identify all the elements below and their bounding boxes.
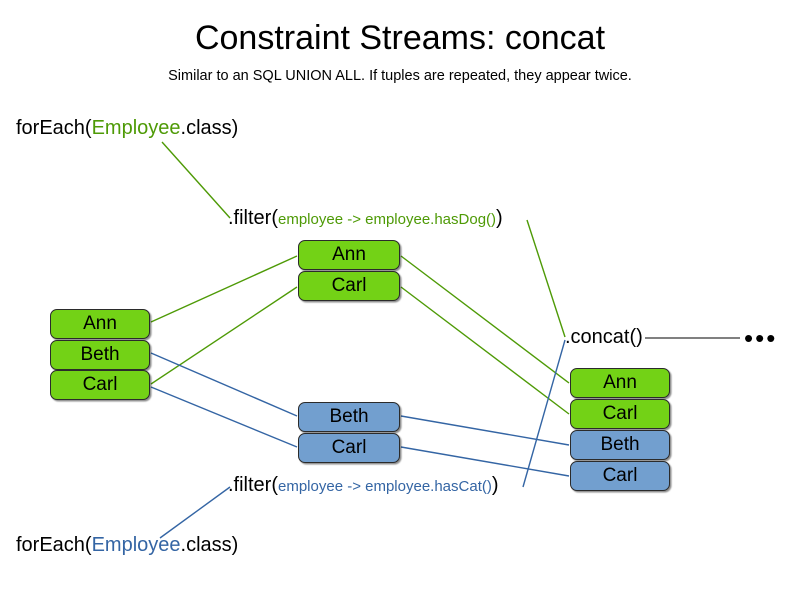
filter-dog-label: .filter(employee -> employee.hasDog()) [228, 208, 503, 228]
wire-dog-carl-to-result-carl [401, 287, 569, 414]
continuation-ellipsis: ••• [744, 325, 777, 351]
wire-foreach-top-to-filter-dog [162, 142, 230, 218]
wire-foreach-bottom-to-filter-cat [160, 487, 230, 538]
connector-layer [0, 0, 800, 600]
page-subtitle: Similar to an SQL UNION ALL. If tuples a… [0, 67, 800, 85]
wire-source-beth-to-cat-beth [151, 353, 297, 416]
filter-cat-label: .filter(employee -> employee.hasCat()) [228, 475, 499, 495]
foreach-top-type: Employee [92, 117, 181, 139]
tuple-node[interactable]: Carl [298, 433, 400, 463]
wire-cat-carl-to-result-carl [401, 447, 569, 476]
wire-filter-cat-to-concat [523, 340, 565, 487]
filter-dog-prefix: .filter( [228, 207, 278, 229]
filter-cat-suffix: ) [492, 474, 499, 496]
concat-label: .concat() [565, 327, 643, 347]
wire-source-carl-to-cat-carl [151, 387, 297, 447]
filter-dog-lambda: employee -> employee.hasDog() [278, 211, 496, 228]
filter-cat-prefix: .filter( [228, 474, 278, 496]
diagram-canvas: Constraint Streams: concat Similar to an… [0, 0, 800, 600]
foreach-top-prefix: forEach( [16, 117, 92, 139]
wire-filter-dog-to-concat [527, 220, 565, 337]
tuple-node[interactable]: Carl [50, 370, 150, 400]
tuple-node[interactable]: Ann [50, 309, 150, 339]
wire-dog-ann-to-result-ann [401, 256, 569, 383]
wire-source-carl-to-dog-carl [151, 287, 297, 384]
tuple-node[interactable]: Carl [570, 399, 670, 429]
concat-text: .concat() [565, 326, 643, 348]
tuple-node[interactable]: Ann [570, 368, 670, 398]
filter-dog-suffix: ) [496, 207, 503, 229]
foreach-bottom-label: forEach(Employee.class) [16, 535, 238, 555]
tuple-node[interactable]: Carl [570, 461, 670, 491]
foreach-bottom-type: Employee [92, 534, 181, 556]
filter-cat-lambda: employee -> employee.hasCat() [278, 478, 492, 495]
page-title: Constraint Streams: concat [0, 18, 800, 58]
tuple-node[interactable]: Beth [50, 340, 150, 370]
foreach-bottom-suffix: .class) [181, 534, 239, 556]
wire-source-ann-to-dog-ann [151, 256, 297, 322]
tuple-node[interactable]: Beth [570, 430, 670, 460]
tuple-node[interactable]: Ann [298, 240, 400, 270]
wire-cat-beth-to-result-beth [401, 416, 569, 445]
foreach-bottom-prefix: forEach( [16, 534, 92, 556]
tuple-node[interactable]: Beth [298, 402, 400, 432]
foreach-top-label: forEach(Employee.class) [16, 118, 238, 138]
foreach-top-suffix: .class) [181, 117, 239, 139]
tuple-node[interactable]: Carl [298, 271, 400, 301]
